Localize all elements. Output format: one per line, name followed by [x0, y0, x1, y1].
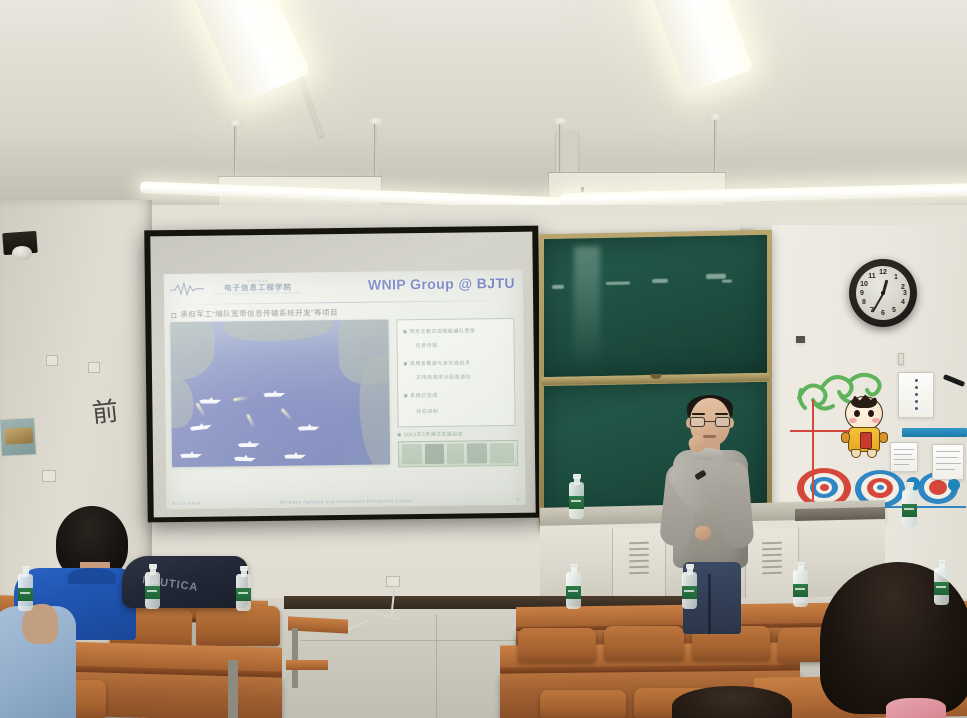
wall-picture — [0, 417, 37, 457]
pendant-rod — [559, 124, 562, 176]
target-ring — [929, 480, 947, 495]
water-bottle[interactable] — [902, 482, 917, 527]
target-axis-vertical — [812, 400, 814, 508]
slide-info-panel: 项目主要实现舰艇编队宽带 信息传输 采用多载波与多天线技术 支持高速率远距离通信… — [396, 318, 515, 427]
bullet-dot-icon — [404, 394, 407, 397]
chalk-mark — [706, 274, 726, 279]
device-cell — [447, 444, 464, 464]
wall-socket[interactable] — [42, 470, 56, 482]
presenter-eyebrow — [715, 413, 728, 415]
mascot-vest — [860, 432, 872, 449]
pendant-rod — [714, 120, 717, 176]
mascot-arm — [879, 432, 888, 443]
pendant-rod — [234, 126, 237, 178]
slide-panel-note: 2013年3月通过总装验收 — [398, 430, 516, 438]
mascot-arm — [841, 432, 850, 443]
water-bottle[interactable] — [793, 562, 808, 607]
water-bottle[interactable] — [934, 560, 949, 605]
chair-backrest[interactable] — [196, 606, 280, 646]
student-front-center-head — [672, 686, 792, 718]
wall-clock: 12 1 2 3 4 5 6 7 8 9 10 11 — [849, 259, 917, 327]
presenter-hand — [695, 526, 711, 540]
bullet-dot-icon — [403, 330, 406, 333]
panel-bullet-3: 系统已完成 — [404, 392, 438, 399]
mascot-blush — [872, 418, 880, 423]
bullet-dot-icon — [404, 362, 407, 365]
chalk-mark — [606, 281, 630, 284]
slide-device-photo — [398, 440, 518, 467]
student-top — [886, 698, 946, 718]
projection-screen: 北京交通大学 电子信息工程学院 SCHOOL OF ELECTRONIC AND… — [144, 226, 542, 523]
notice-sheet[interactable] — [932, 444, 964, 480]
wall-hook — [898, 353, 904, 365]
slide-title: WNIP Group @ BJTU — [368, 275, 515, 293]
presentation-slide: 北京交通大学 电子信息工程学院 SCHOOL OF ELECTRONIC AND… — [164, 270, 526, 509]
clock-number-5: 5 — [889, 307, 899, 314]
clock-number-9: 9 — [857, 290, 867, 297]
device-cell — [466, 443, 487, 463]
wall-bracket — [796, 336, 805, 343]
panel-bullet-3-text: 系统已完成 — [410, 393, 438, 399]
chair-backrest[interactable] — [518, 628, 596, 662]
glasses-icon — [690, 417, 730, 427]
chair-backrest[interactable] — [540, 690, 626, 718]
floor-tile-line — [436, 614, 437, 718]
panel-bullet-3-sub: 样机研制 — [416, 408, 438, 415]
panel-bullet-2: 采用多载波与多天线技术 — [404, 359, 471, 367]
presenter-figure — [655, 398, 763, 633]
slide-panel-note-text: 2013年3月通过总装验收 — [404, 432, 463, 439]
chalk-mark — [722, 280, 732, 283]
mascot-eye — [854, 410, 860, 417]
pendant-rod — [374, 124, 377, 178]
desk-leg — [228, 660, 238, 718]
wall-socket[interactable] — [46, 355, 58, 366]
slide-footer-center: Wireless Network and Information Percept… — [167, 497, 526, 506]
slide-map-image — [170, 319, 390, 467]
clock-number-8: 8 — [859, 299, 869, 306]
target-bullseye — [820, 484, 829, 491]
panel-bullet-2-text: 采用多载波与多天线技术 — [410, 360, 471, 367]
chalk-mark — [652, 279, 668, 283]
target-bullseye — [877, 485, 884, 490]
slide-header: 北京交通大学 电子信息工程学院 SCHOOL OF ELECTRONIC AND… — [164, 270, 523, 304]
clock-face: 12 1 2 3 4 5 6 7 8 9 10 11 — [856, 266, 910, 320]
jacket-on-desk: NAUTICA — [122, 556, 248, 608]
presenter-right-arm — [717, 461, 754, 549]
clock-number-3: 3 — [900, 290, 910, 297]
desk-leg — [292, 628, 298, 688]
clock-number-11: 11 — [867, 273, 877, 280]
blackboard-glare — [574, 246, 600, 366]
panel-bullet-2-sub: 支持高速率远距离通信 — [416, 373, 471, 381]
blackboard-upper-panel — [544, 235, 767, 377]
panel-bullet-1-text: 项目主要实现舰艇编队宽带 — [409, 328, 475, 335]
presenter-leg-seam — [708, 574, 711, 634]
water-bottle[interactable] — [569, 474, 584, 519]
slide-bullet-heading-text: 承担军工“编队宽带信息传输系统开发”等项目 — [180, 308, 338, 319]
chalk-mark — [552, 285, 564, 289]
clock-number-10: 10 — [859, 281, 869, 288]
clock-number-1: 1 — [891, 274, 901, 281]
mascot-leg — [867, 449, 877, 458]
classroom-scene: 前 北京交通大学 电子信息工程学院 SCHOOL OF ELECTRONIC A… — [0, 0, 967, 718]
bullet-dot-icon — [398, 433, 401, 436]
cartoon-mascot-icon — [838, 396, 890, 458]
mascot-eye — [868, 410, 874, 417]
presenter-eyebrow — [692, 413, 705, 415]
student-edge-left — [0, 584, 76, 718]
wall-socket[interactable] — [88, 362, 100, 373]
target-axis-horizontal — [790, 430, 850, 432]
notice-sheet[interactable] — [890, 442, 918, 472]
bullet-square-icon — [171, 313, 176, 318]
device-cell — [490, 443, 514, 463]
waveform-logo-icon — [170, 282, 204, 296]
blue-circle-decal — [948, 479, 960, 491]
clock-center-pin — [881, 291, 885, 295]
wall-character-text: 前 — [90, 391, 120, 431]
clock-number-12: 12 — [878, 269, 888, 276]
mascot-leg — [851, 449, 861, 458]
panel-bullet-1: 项目主要实现舰艇编队宽带 — [403, 327, 475, 335]
notice-sheet[interactable] — [898, 372, 934, 418]
water-bottle[interactable] — [566, 564, 581, 609]
screen-surface: 北京交通大学 电子信息工程学院 SCHOOL OF ELECTRONIC AND… — [150, 232, 535, 518]
panel-bullet-1-sub: 信息传输 — [416, 342, 438, 349]
mascot-hair — [851, 394, 877, 408]
student-collar — [68, 568, 116, 584]
device-cell — [425, 444, 444, 464]
desk-shelf — [286, 660, 328, 670]
water-bottle[interactable] — [18, 566, 33, 611]
water-bottle[interactable] — [145, 564, 160, 609]
mascot-blush — [849, 418, 857, 423]
device-cell — [402, 444, 423, 464]
clock-number-6: 6 — [878, 310, 888, 317]
slide-university-logo-text: 北京交通大学 电子信息工程学院 SCHOOL OF ELECTRONIC AND… — [210, 278, 306, 296]
podium-ledge — [795, 507, 885, 521]
presenter-mouth — [703, 435, 716, 438]
water-bottle[interactable] — [682, 564, 697, 609]
blue-banner-strip — [902, 428, 967, 437]
slide-footer: BJTU WNIP Wireless Network and Informati… — [167, 497, 526, 506]
logo-university-en: SCHOOL OF ELECTRONIC AND INFORMATION ENG… — [210, 291, 306, 296]
water-bottle[interactable] — [236, 566, 251, 611]
clock-number-4: 4 — [898, 299, 908, 306]
security-camera-icon — [12, 246, 32, 260]
